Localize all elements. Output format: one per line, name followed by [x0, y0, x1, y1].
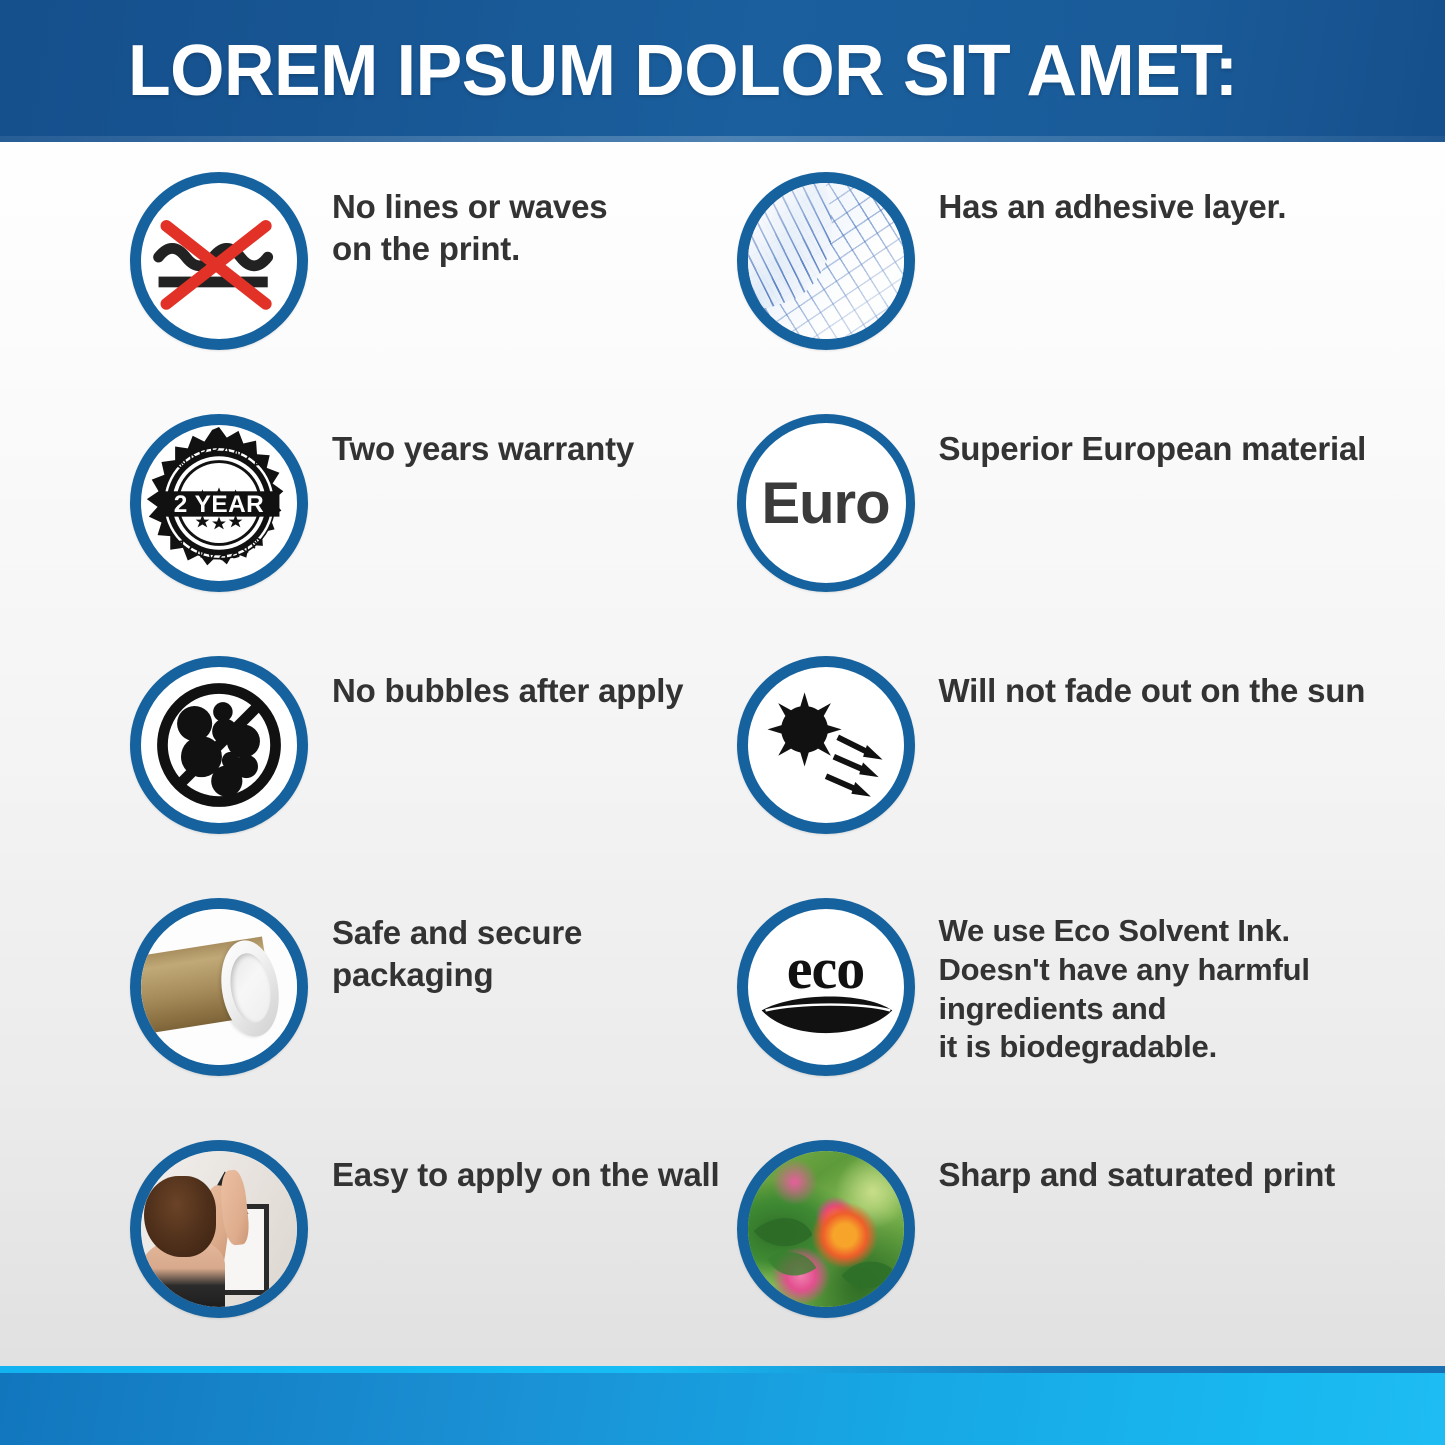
icon-eco-leaf: eco	[737, 898, 915, 1076]
eco-leaf-icon	[748, 909, 904, 1065]
feature-item-adhesive-layer: Has an adhesive layer.	[723, 150, 1445, 392]
euro-icon: Euro	[746, 423, 906, 583]
icon-no-lines-waves	[130, 172, 308, 350]
feature-item-euro-material: Euro Superior European material	[723, 392, 1445, 634]
feature-item-fade-resistant: Will not fade out on the sun	[723, 634, 1445, 876]
feature-label: Two years warranty	[332, 414, 634, 470]
icon-wall-application	[130, 1140, 308, 1318]
two-year-warranty-badge-icon: WARRANTY WARRANTY	[141, 425, 297, 581]
feature-label: Has an adhesive layer.	[939, 172, 1287, 228]
no-lines-waves-icon	[141, 183, 297, 339]
header-banner: LOREM IPSUM DOLOR SIT AMET:	[0, 0, 1445, 142]
feature-label: No lines or waves on the print.	[332, 172, 607, 270]
icon-ring: eco	[737, 898, 915, 1076]
feature-label: Easy to apply on the wall	[332, 1140, 719, 1196]
feature-item-easy-apply: Easy to apply on the wall	[0, 1118, 723, 1360]
feature-item-no-bubbles: No bubbles after apply	[0, 634, 723, 876]
footer-stripe	[0, 1366, 1445, 1373]
footer-banner	[0, 1373, 1445, 1445]
feature-item-packaging: Safe and secure packaging	[0, 876, 723, 1118]
feature-label: Superior European material	[939, 414, 1367, 470]
feature-item-eco-ink: eco We use Eco Solvent Ink. Doesn't have…	[723, 876, 1445, 1118]
icon-ring	[737, 172, 915, 350]
icon-ring: Euro	[737, 414, 915, 592]
icon-sun-fade	[737, 656, 915, 834]
icon-adhesive-layer	[737, 172, 915, 350]
icon-ring	[130, 172, 308, 350]
feature-item-sharp-print: Sharp and saturated print	[723, 1118, 1445, 1360]
icon-ring	[130, 656, 308, 834]
foliage-overlay	[748, 1151, 904, 1307]
feature-poster: LOREM IPSUM DOLOR SIT AMET: No lines or …	[0, 0, 1445, 1445]
page-title: LOREM IPSUM DOLOR SIT AMET:	[128, 35, 1237, 107]
feature-label: No bubbles after apply	[332, 656, 683, 712]
icon-flower-print	[737, 1140, 915, 1318]
no-bubbles-icon	[141, 667, 297, 823]
icon-ring	[737, 656, 915, 834]
hair	[144, 1176, 216, 1257]
shipping-tube-icon	[141, 909, 297, 1065]
icon-euro: Euro	[737, 414, 915, 592]
feature-label: Sharp and saturated print	[939, 1140, 1336, 1196]
feature-grid: No lines or waves on the print. Has an a…	[0, 150, 1445, 1360]
svg-text:2 YEAR: 2 YEAR	[174, 491, 264, 518]
wall-application-photo-icon	[141, 1151, 297, 1307]
icon-ring: WARRANTY WARRANTY	[130, 414, 308, 592]
icon-warranty: WARRANTY WARRANTY	[130, 414, 308, 592]
mesh-sheen	[748, 183, 904, 339]
icon-ring	[130, 898, 308, 1076]
icon-ring	[130, 1140, 308, 1318]
feature-item-no-lines-waves: No lines or waves on the print.	[0, 150, 723, 392]
icon-ring	[737, 1140, 915, 1318]
feature-item-warranty: WARRANTY WARRANTY	[0, 392, 723, 634]
feature-label: We use Eco Solvent Ink. Doesn't have any…	[939, 898, 1310, 1067]
feature-label: Will not fade out on the sun	[939, 656, 1366, 712]
icon-no-bubbles	[130, 656, 308, 834]
feature-label: Safe and secure packaging	[332, 898, 723, 996]
icon-shipping-tube	[130, 898, 308, 1076]
sun-fade-resistant-icon	[748, 667, 904, 823]
